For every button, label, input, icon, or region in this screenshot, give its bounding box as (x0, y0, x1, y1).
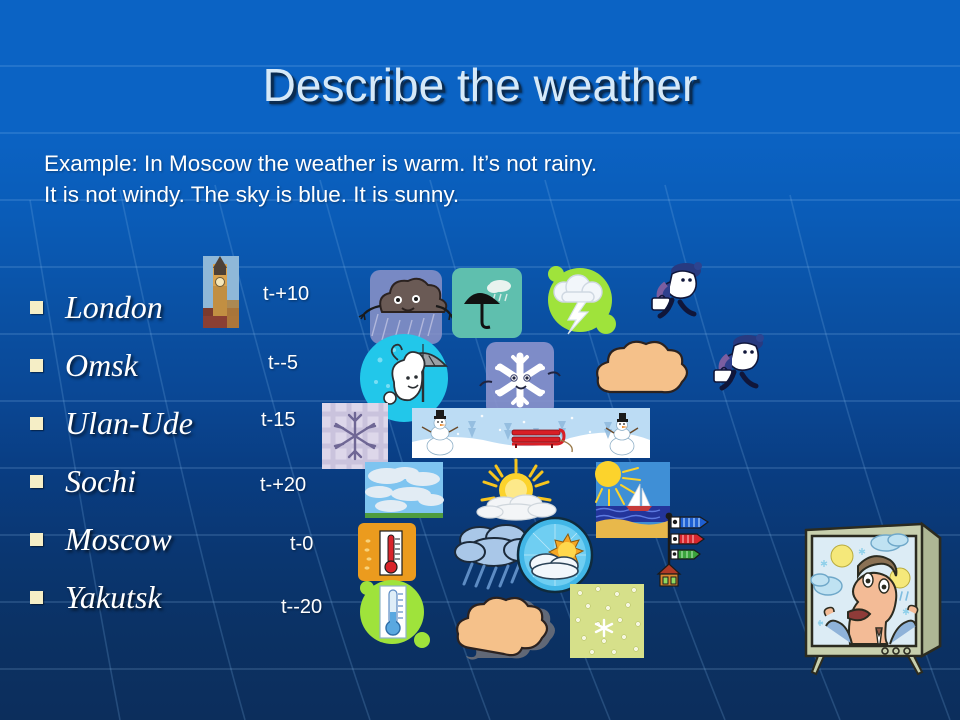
city-label: Ulan-Ude (65, 405, 193, 442)
running-businessman-icon (712, 330, 774, 396)
temperature-label-sochi: t-+20 (260, 474, 306, 497)
slide-canvas: Describe the weather Example: In Moscow … (0, 0, 960, 720)
snowfall-tile (570, 584, 644, 658)
city-label: Sochi (65, 463, 136, 500)
city-label: Moscow (65, 521, 172, 558)
list-item: Sochi (22, 452, 262, 510)
temperature-label-moscow: t-0 (290, 533, 313, 556)
carp-streamers-icon (656, 506, 724, 586)
bullet-square-icon (30, 475, 43, 488)
temperature-label-omsk: t--5 (268, 352, 298, 375)
thermometer-warm-icon (358, 523, 416, 581)
list-item: Yakutsk (22, 568, 262, 626)
list-item: Moscow (22, 510, 262, 568)
snowmen-sled-winter-banner (412, 408, 650, 458)
peach-cloud-icon (448, 592, 558, 660)
city-label: Yakutsk (65, 579, 162, 616)
bullet-square-icon (30, 591, 43, 604)
temperature-label-yakutsk: t--20 (281, 596, 322, 619)
tv-weather-presenter (790, 516, 952, 676)
thunderstorm-icon (534, 258, 620, 338)
bullet-square-icon (30, 533, 43, 546)
list-item: Ulan-Ude (22, 394, 262, 452)
snowflake-plaid-tile (322, 403, 388, 469)
temperature-label-ulan-ude: t-15 (261, 409, 295, 432)
peach-cloud-icon (592, 338, 696, 400)
example-line-2: It is not windy. The sky is blue. It is … (44, 179, 864, 210)
page-title: Describe the weather (0, 58, 960, 112)
running-businessman-icon (650, 258, 712, 324)
example-paragraph: Example: In Moscow the weather is warm. … (44, 148, 864, 210)
bullet-square-icon (30, 301, 43, 314)
partly-sunny-icon (516, 516, 594, 594)
bullet-square-icon (30, 359, 43, 372)
cloudy-sky-photo (365, 462, 443, 518)
list-item: Omsk (22, 336, 262, 394)
big-ben-icon (203, 256, 239, 328)
city-label: Omsk (65, 347, 138, 384)
temperature-label-london: t-+10 (263, 283, 309, 306)
thermometer-cold-icon (356, 576, 440, 658)
city-list: London Omsk Ulan-Ude Sochi Moscow Yakuts… (22, 278, 262, 626)
bullet-square-icon (30, 417, 43, 430)
example-line-1: Example: In Moscow the weather is warm. … (44, 148, 864, 179)
city-label: London (65, 289, 163, 326)
